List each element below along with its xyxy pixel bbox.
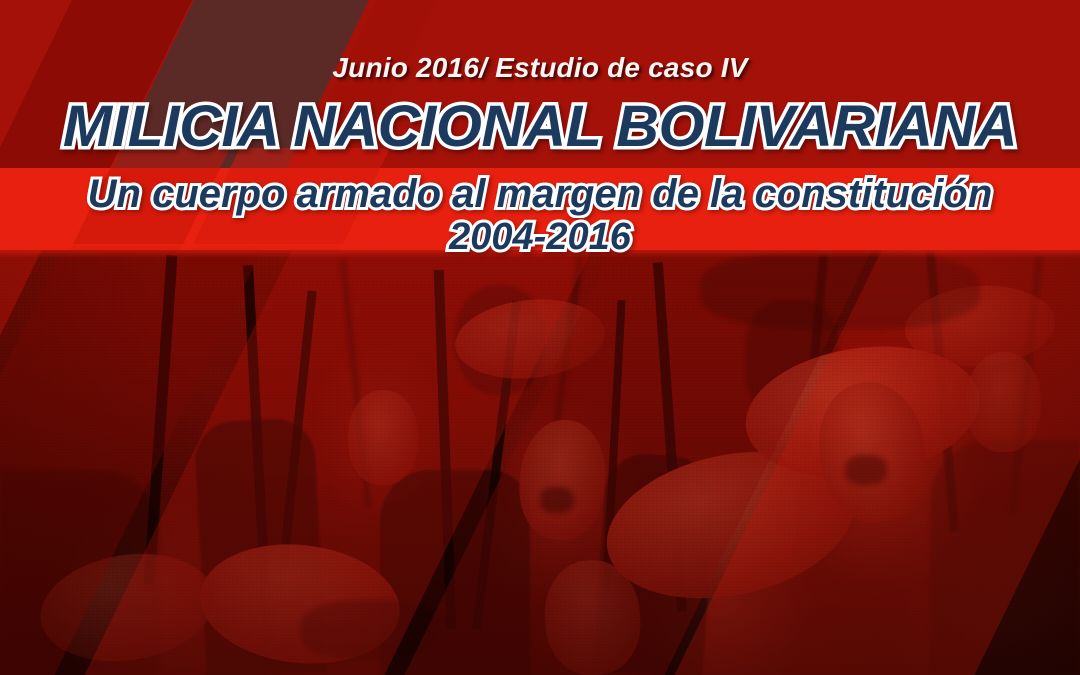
poster-title: MILICIA NACIONAL BOLIVARIANA [0,96,1080,158]
poster-subtitle: Un cuerpo armado al margen de la constit… [0,172,1080,216]
poster-kicker: Junio 2016/ Estudio de caso IV [0,52,1080,84]
poster-years: 2004-2016 [0,216,1080,258]
poster-root: Junio 2016/ Estudio de caso IV MILICIA N… [0,0,1080,675]
